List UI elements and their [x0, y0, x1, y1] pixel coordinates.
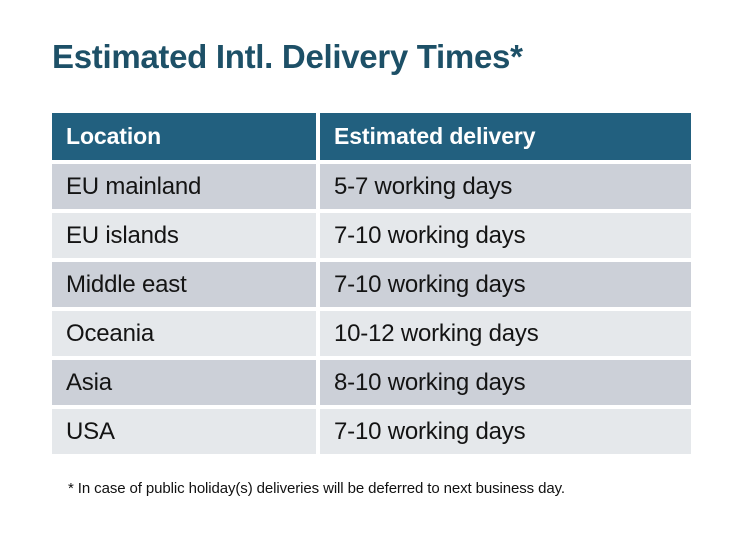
table-row: EU mainland 5-7 working days [52, 164, 691, 209]
table-row: Asia 8-10 working days [52, 360, 691, 405]
cell-estimated-delivery: 7-10 working days [320, 213, 691, 258]
table-row: Oceania 10-12 working days [52, 311, 691, 356]
cell-estimated-delivery: 7-10 working days [320, 262, 691, 307]
cell-location: Oceania [52, 311, 316, 356]
cell-location: EU mainland [52, 164, 316, 209]
cell-estimated-delivery: 7-10 working days [320, 409, 691, 454]
table-row: USA 7-10 working days [52, 409, 691, 454]
cell-location: EU islands [52, 213, 316, 258]
table-header-row: Location Estimated delivery [52, 113, 691, 160]
estimated-delivery-table: Location Estimated delivery EU mainland … [52, 113, 691, 458]
table-row: EU islands 7-10 working days [52, 213, 691, 258]
cell-location: Middle east [52, 262, 316, 307]
cell-estimated-delivery: 5-7 working days [320, 164, 691, 209]
column-header-location: Location [52, 113, 316, 160]
cell-estimated-delivery: 10-12 working days [320, 311, 691, 356]
footnote-text: * In case of public holiday(s) deliverie… [68, 480, 565, 497]
cell-location: Asia [52, 360, 316, 405]
cell-location: USA [52, 409, 316, 454]
delivery-times-page: Estimated Intl. Delivery Times* Location… [0, 0, 745, 536]
cell-estimated-delivery: 8-10 working days [320, 360, 691, 405]
page-title: Estimated Intl. Delivery Times* [52, 36, 523, 78]
table-row: Middle east 7-10 working days [52, 262, 691, 307]
column-header-estimated-delivery: Estimated delivery [320, 113, 691, 160]
